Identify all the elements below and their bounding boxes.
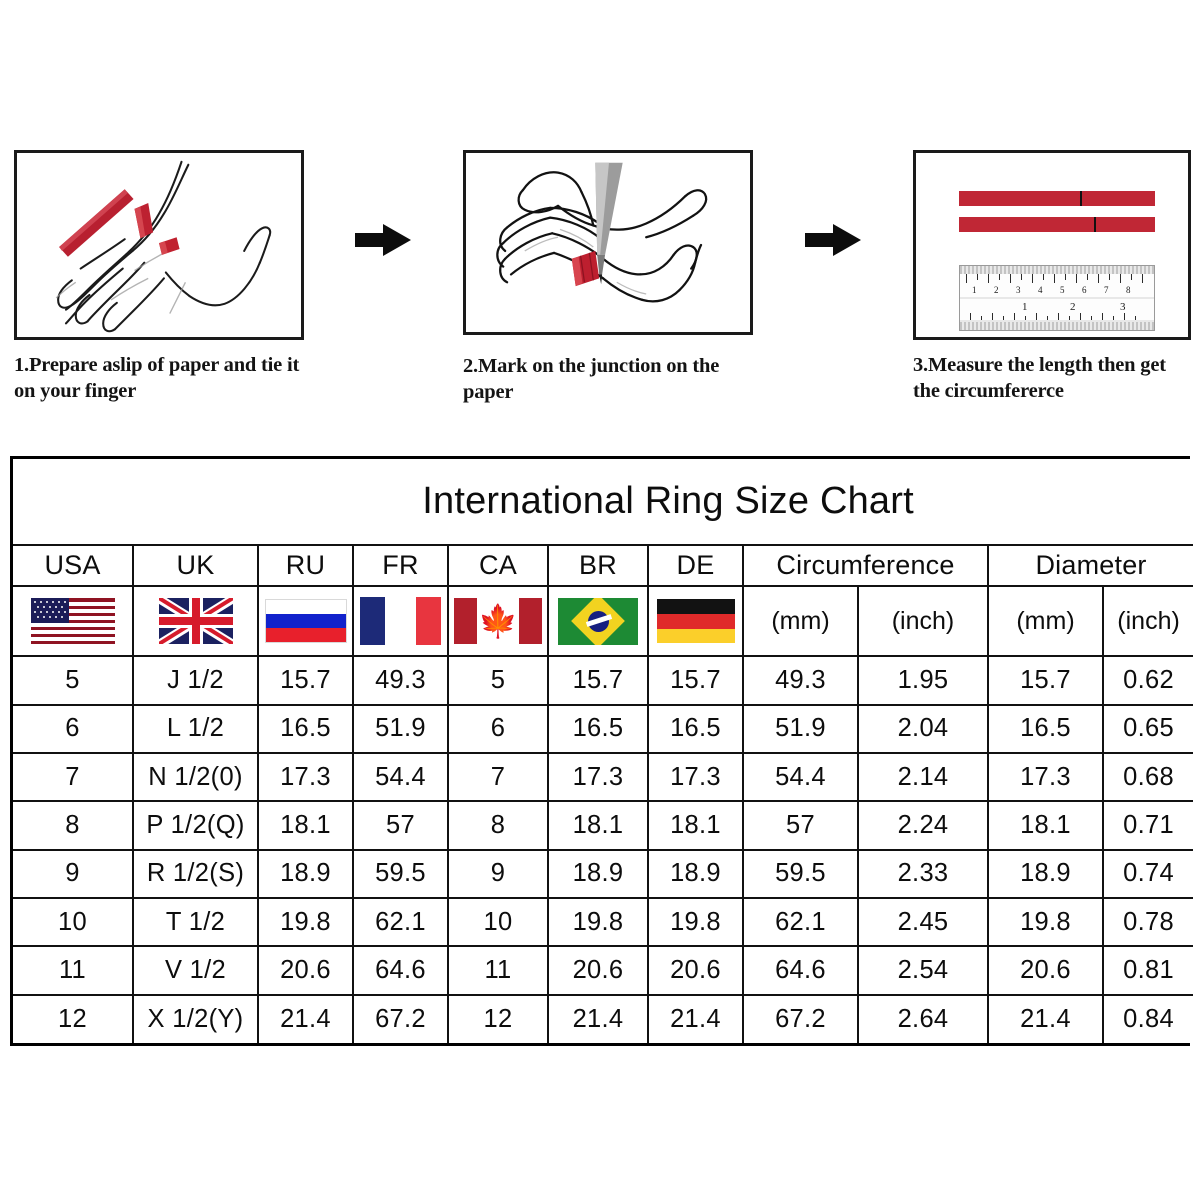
hand-with-paper-strip-icon bbox=[17, 153, 301, 339]
ruler-edge-top bbox=[960, 266, 1154, 274]
cell-de: 17.3 bbox=[648, 753, 743, 801]
cell-diameter-mm: 17.3 bbox=[988, 753, 1103, 801]
column-header-br: BR bbox=[548, 545, 648, 586]
cell-de: 15.7 bbox=[648, 656, 743, 704]
step-2: 2.Mark on the junction on the paper bbox=[463, 150, 753, 405]
step-1-illustration bbox=[14, 150, 304, 340]
cell-diameter-inch: 0.71 bbox=[1103, 801, 1193, 849]
cell-diameter-mm: 18.9 bbox=[988, 850, 1103, 898]
cell-diameter-mm: 16.5 bbox=[988, 705, 1103, 753]
cell-de: 21.4 bbox=[648, 995, 743, 1043]
cell-ca: 5 bbox=[448, 656, 548, 704]
cell-ca: 12 bbox=[448, 995, 548, 1043]
flag-russia bbox=[265, 599, 347, 643]
cell-de: 19.8 bbox=[648, 898, 743, 946]
cell-de: 16.5 bbox=[648, 705, 743, 753]
ruler-cm-face: 1 2 3 4 5 6 7 8 bbox=[960, 274, 1154, 297]
cell-uk: L 1/2 bbox=[133, 705, 258, 753]
cell-circumference-mm: 57 bbox=[743, 801, 858, 849]
cell-ru: 17.3 bbox=[258, 753, 353, 801]
table-row: 12 X 1/2(Y) 21.4 67.2 12 21.4 21.4 67.2 … bbox=[13, 995, 1193, 1043]
flag-canada: 🍁 bbox=[454, 598, 542, 644]
cell-uk: P 1/2(Q) bbox=[133, 801, 258, 849]
flag-cell-fr bbox=[353, 586, 448, 656]
cell-circumference-inch: 2.14 bbox=[858, 753, 988, 801]
cell-diameter-mm: 20.6 bbox=[988, 946, 1103, 994]
maple-leaf-icon: 🍁 bbox=[478, 605, 518, 637]
unit-diameter-inch: (inch) bbox=[1103, 586, 1193, 656]
ring-size-chart-page: 1.Prepare aslip of paper and tie it on y… bbox=[0, 0, 1200, 1200]
cell-uk: N 1/2(0) bbox=[133, 753, 258, 801]
ruler-cm-label: 7 bbox=[1104, 285, 1109, 295]
cell-circumference-mm: 67.2 bbox=[743, 995, 858, 1043]
step-1: 1.Prepare aslip of paper and tie it on y… bbox=[14, 150, 304, 404]
ruler-edge-bottom bbox=[960, 322, 1154, 330]
flag-uk bbox=[159, 598, 233, 644]
page-title: International Ring Size Chart bbox=[13, 459, 1193, 545]
cell-diameter-mm: 15.7 bbox=[988, 656, 1103, 704]
cell-fr: 49.3 bbox=[353, 656, 448, 704]
column-header-usa: USA bbox=[13, 545, 133, 586]
cell-ru: 21.4 bbox=[258, 995, 353, 1043]
arrow-right-icon bbox=[355, 222, 411, 258]
cell-uk: J 1/2 bbox=[133, 656, 258, 704]
cell-br: 18.9 bbox=[548, 850, 648, 898]
cell-ca: 8 bbox=[448, 801, 548, 849]
cell-ru: 18.9 bbox=[258, 850, 353, 898]
step-3-illustration: 1 2 3 4 5 6 7 8 bbox=[913, 150, 1191, 340]
step-3: 1 2 3 4 5 6 7 8 bbox=[913, 150, 1191, 404]
column-header-diameter: Diameter bbox=[988, 545, 1193, 586]
cell-usa: 7 bbox=[13, 753, 133, 801]
table-row: 5 J 1/2 15.7 49.3 5 15.7 15.7 49.3 1.95 … bbox=[13, 656, 1193, 704]
column-header-fr: FR bbox=[353, 545, 448, 586]
cell-usa: 5 bbox=[13, 656, 133, 704]
cell-ru: 20.6 bbox=[258, 946, 353, 994]
table-row: 11 V 1/2 20.6 64.6 11 20.6 20.6 64.6 2.5… bbox=[13, 946, 1193, 994]
ruler-inch-label: 1 bbox=[1022, 301, 1028, 313]
cell-ca: 6 bbox=[448, 705, 548, 753]
ruler-inch-face: 1 2 3 bbox=[960, 299, 1154, 320]
cell-fr: 59.5 bbox=[353, 850, 448, 898]
cell-ca: 10 bbox=[448, 898, 548, 946]
cell-ca: 11 bbox=[448, 946, 548, 994]
paper-strip-lower bbox=[959, 217, 1155, 232]
cell-ru: 18.1 bbox=[258, 801, 353, 849]
cell-diameter-mm: 21.4 bbox=[988, 995, 1103, 1043]
ring-size-table: International Ring Size Chart USA UK RU … bbox=[13, 459, 1193, 1043]
cell-circumference-inch: 2.54 bbox=[858, 946, 988, 994]
ring-size-table-wrapper: International Ring Size Chart USA UK RU … bbox=[10, 456, 1190, 1046]
cell-fr: 51.9 bbox=[353, 705, 448, 753]
column-header-ru: RU bbox=[258, 545, 353, 586]
flag-cell-ru bbox=[258, 586, 353, 656]
flag-germany bbox=[657, 599, 735, 643]
cell-uk: V 1/2 bbox=[133, 946, 258, 994]
cell-de: 18.9 bbox=[648, 850, 743, 898]
ruler-cm-label: 2 bbox=[994, 285, 999, 295]
flag-usa bbox=[31, 598, 115, 644]
junction-mark bbox=[1094, 217, 1096, 232]
table-title-row: International Ring Size Chart bbox=[13, 459, 1193, 545]
flag-cell-ca: 🍁 bbox=[448, 586, 548, 656]
cell-circumference-mm: 59.5 bbox=[743, 850, 858, 898]
table-header-row: USA UK RU FR CA BR DE Circumference Diam… bbox=[13, 545, 1193, 586]
cell-diameter-mm: 18.1 bbox=[988, 801, 1103, 849]
cell-circumference-inch: 2.45 bbox=[858, 898, 988, 946]
cell-fr: 57 bbox=[353, 801, 448, 849]
cell-circumference-inch: 2.33 bbox=[858, 850, 988, 898]
ruler-cm-label: 4 bbox=[1038, 285, 1043, 295]
cell-circumference-inch: 2.24 bbox=[858, 801, 988, 849]
ruler-cm-label: 8 bbox=[1126, 285, 1131, 295]
ruler-cm-label: 6 bbox=[1082, 285, 1087, 295]
cell-circumference-inch: 2.04 bbox=[858, 705, 988, 753]
cell-circumference-inch: 2.64 bbox=[858, 995, 988, 1043]
cell-circumference-mm: 54.4 bbox=[743, 753, 858, 801]
table-row: 8 P 1/2(Q) 18.1 57 8 18.1 18.1 57 2.24 1… bbox=[13, 801, 1193, 849]
cell-uk: T 1/2 bbox=[133, 898, 258, 946]
cell-br: 19.8 bbox=[548, 898, 648, 946]
cell-usa: 9 bbox=[13, 850, 133, 898]
column-header-circumference: Circumference bbox=[743, 545, 988, 586]
cell-usa: 10 bbox=[13, 898, 133, 946]
ruler-inch-label: 2 bbox=[1070, 301, 1076, 313]
flag-brazil bbox=[558, 598, 638, 645]
cell-usa: 11 bbox=[13, 946, 133, 994]
cell-ca: 7 bbox=[448, 753, 548, 801]
cell-ru: 16.5 bbox=[258, 705, 353, 753]
ruler-cm-label: 1 bbox=[972, 285, 977, 295]
cell-ca: 9 bbox=[448, 850, 548, 898]
cell-circumference-inch: 1.95 bbox=[858, 656, 988, 704]
cell-br: 21.4 bbox=[548, 995, 648, 1043]
junction-mark bbox=[1080, 191, 1082, 206]
cell-circumference-mm: 51.9 bbox=[743, 705, 858, 753]
cell-diameter-inch: 0.62 bbox=[1103, 656, 1193, 704]
cell-diameter-inch: 0.74 bbox=[1103, 850, 1193, 898]
cell-fr: 62.1 bbox=[353, 898, 448, 946]
cell-circumference-mm: 62.1 bbox=[743, 898, 858, 946]
cell-de: 20.6 bbox=[648, 946, 743, 994]
unit-circumference-mm: (mm) bbox=[743, 586, 858, 656]
ruler-inch-label: 3 bbox=[1120, 301, 1126, 313]
cell-diameter-mm: 19.8 bbox=[988, 898, 1103, 946]
cell-br: 15.7 bbox=[548, 656, 648, 704]
paper-strip-upper bbox=[959, 191, 1155, 206]
cell-circumference-mm: 64.6 bbox=[743, 946, 858, 994]
ruler-cm-label: 3 bbox=[1016, 285, 1021, 295]
cell-ru: 15.7 bbox=[258, 656, 353, 704]
cell-br: 20.6 bbox=[548, 946, 648, 994]
cell-br: 17.3 bbox=[548, 753, 648, 801]
cell-circumference-mm: 49.3 bbox=[743, 656, 858, 704]
cell-br: 18.1 bbox=[548, 801, 648, 849]
unit-diameter-mm: (mm) bbox=[988, 586, 1103, 656]
cell-diameter-inch: 0.68 bbox=[1103, 753, 1193, 801]
cell-usa: 12 bbox=[13, 995, 133, 1043]
step-2-illustration bbox=[463, 150, 753, 335]
arrow-right-icon bbox=[805, 222, 861, 258]
flag-france bbox=[359, 597, 443, 645]
step-2-caption: 2.Mark on the junction on the paper bbox=[463, 353, 753, 405]
cell-ru: 19.8 bbox=[258, 898, 353, 946]
hand-marking-with-pen-icon bbox=[466, 153, 750, 334]
cell-de: 18.1 bbox=[648, 801, 743, 849]
unit-circumference-inch: (inch) bbox=[858, 586, 988, 656]
step-3-caption: 3.Measure the length then get the circum… bbox=[913, 352, 1191, 404]
cell-uk: R 1/2(S) bbox=[133, 850, 258, 898]
cell-usa: 8 bbox=[13, 801, 133, 849]
cell-diameter-inch: 0.84 bbox=[1103, 995, 1193, 1043]
column-header-ca: CA bbox=[448, 545, 548, 586]
step-1-caption: 1.Prepare aslip of paper and tie it on y… bbox=[14, 352, 304, 404]
column-header-uk: UK bbox=[133, 545, 258, 586]
cell-diameter-inch: 0.78 bbox=[1103, 898, 1193, 946]
flag-cell-uk bbox=[133, 586, 258, 656]
flag-cell-de bbox=[648, 586, 743, 656]
cell-fr: 54.4 bbox=[353, 753, 448, 801]
cell-diameter-inch: 0.81 bbox=[1103, 946, 1193, 994]
table-row: 7 N 1/2(0) 17.3 54.4 7 17.3 17.3 54.4 2.… bbox=[13, 753, 1193, 801]
ruler-cm-label: 5 bbox=[1060, 285, 1065, 295]
cell-fr: 64.6 bbox=[353, 946, 448, 994]
cell-diameter-inch: 0.65 bbox=[1103, 705, 1193, 753]
table-flag-row: 🍁 (mm) (inch) bbox=[13, 586, 1193, 656]
cell-br: 16.5 bbox=[548, 705, 648, 753]
cell-uk: X 1/2(Y) bbox=[133, 995, 258, 1043]
measuring-instructions: 1.Prepare aslip of paper and tie it on y… bbox=[0, 0, 1200, 430]
table-row: 10 T 1/2 19.8 62.1 10 19.8 19.8 62.1 2.4… bbox=[13, 898, 1193, 946]
usa-canton bbox=[31, 598, 69, 623]
table-row: 9 R 1/2(S) 18.9 59.5 9 18.9 18.9 59.5 2.… bbox=[13, 850, 1193, 898]
table-row: 6 L 1/2 16.5 51.9 6 16.5 16.5 51.9 2.04 … bbox=[13, 705, 1193, 753]
ruler-icon: 1 2 3 4 5 6 7 8 bbox=[959, 265, 1155, 331]
cell-usa: 6 bbox=[13, 705, 133, 753]
flag-cell-usa bbox=[13, 586, 133, 656]
cell-fr: 67.2 bbox=[353, 995, 448, 1043]
column-header-de: DE bbox=[648, 545, 743, 586]
flag-cell-br bbox=[548, 586, 648, 656]
